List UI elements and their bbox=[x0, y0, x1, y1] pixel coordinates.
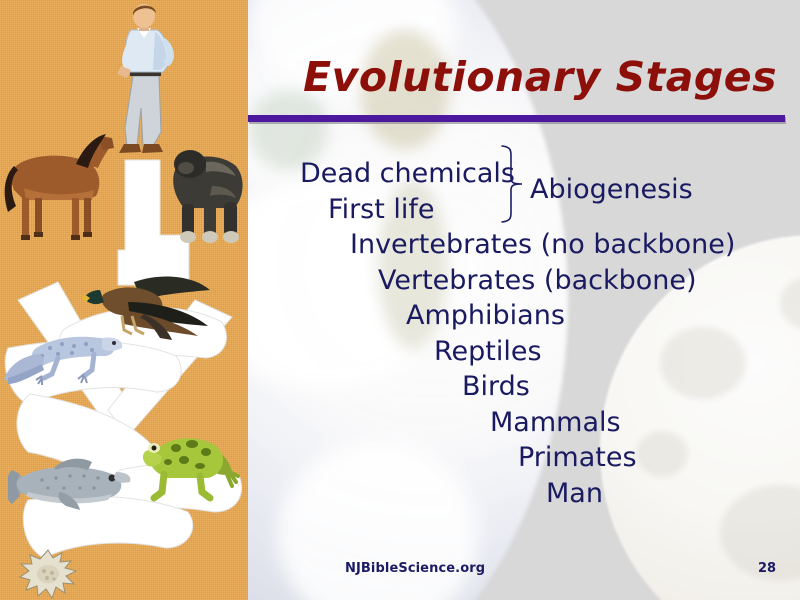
horse-figure bbox=[2, 132, 114, 242]
list-item: Primates bbox=[258, 440, 788, 476]
amoeba-figure bbox=[18, 548, 80, 600]
fish-figure bbox=[8, 450, 136, 530]
list-item: Amphibians bbox=[258, 298, 788, 334]
gorilla-figure bbox=[166, 138, 248, 246]
page-title: Evolutionary Stages bbox=[248, 56, 785, 99]
slide: Evolutionary Stages Dead chemicals First… bbox=[0, 0, 800, 600]
title-divider bbox=[248, 115, 785, 122]
list-item: Invertebrates (no backbone) bbox=[258, 227, 788, 263]
illustration-panel bbox=[0, 0, 248, 600]
frog-figure bbox=[140, 422, 240, 504]
footer-site-credit: NJBibleScience.org bbox=[345, 561, 485, 576]
lizard-figure bbox=[2, 322, 124, 402]
list-item: Mammals bbox=[258, 405, 788, 441]
curly-brace-icon bbox=[496, 144, 530, 224]
list-item: Reptiles bbox=[258, 334, 788, 370]
abiogenesis-label: Abiogenesis bbox=[530, 174, 693, 205]
list-item: Vertebrates (backbone) bbox=[258, 263, 788, 299]
list-item: Man bbox=[258, 476, 788, 512]
page-number: 28 bbox=[758, 561, 776, 576]
list-item: Birds bbox=[258, 369, 788, 405]
